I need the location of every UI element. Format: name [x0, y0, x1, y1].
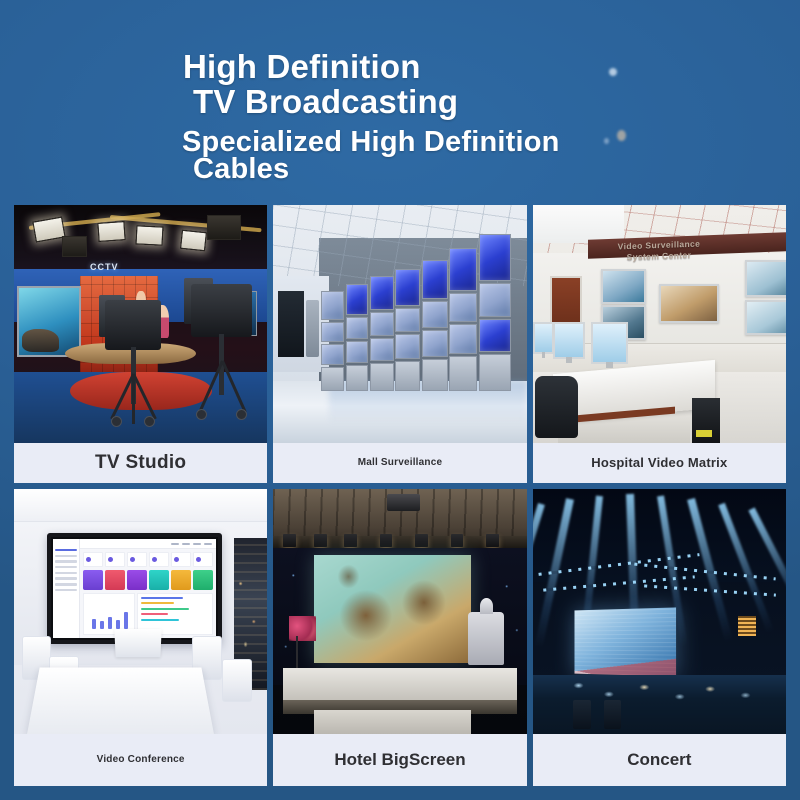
dashboard-tile: [193, 570, 213, 590]
hotel-spotlight: [283, 534, 296, 546]
mall-cabinet: [479, 354, 512, 390]
mall-monitor-column-6: [449, 248, 477, 391]
mall-screen: [321, 344, 344, 364]
bokeh-light-2: [617, 130, 626, 141]
hotel-projection-screen: [314, 555, 471, 663]
chart-bar: [108, 617, 112, 629]
card-concert[interactable]: Concert: [533, 489, 786, 786]
studio-monitor-left: [17, 286, 82, 357]
mall-screen: [449, 248, 477, 291]
chart-bar: [116, 620, 120, 629]
mall-screen: [422, 260, 449, 299]
mall-monitor-column-2: [346, 284, 369, 391]
hospital-wall-display-5: [745, 300, 786, 335]
mall-screen: [449, 293, 477, 322]
camera-wheel-2b: [236, 409, 247, 420]
stat-card: [127, 552, 147, 567]
banner-header: High Definition TV Broadcasting Speciali…: [0, 0, 800, 196]
mall-screen: [422, 301, 449, 328]
conference-chair-right-2: [222, 659, 252, 703]
mall-monitor-column-3: [370, 276, 394, 390]
stat-card: [171, 552, 191, 567]
toolbar-item: [204, 543, 212, 545]
hospital-signage: Video SurveillanceSystem Center: [618, 238, 701, 262]
concert-stage-monitor-2: [604, 700, 622, 729]
headline-line-2: TV Broadcasting: [193, 83, 458, 121]
card-hotel-big-screen[interactable]: Hotel BigScreen: [273, 489, 526, 786]
card-tv-studio[interactable]: CCTV: [14, 205, 267, 483]
studio-lamp-4: [180, 230, 207, 251]
concert-amber-light-block: [738, 616, 756, 636]
mall-monitor-column-4: [395, 269, 420, 390]
chart-bar: [100, 621, 104, 629]
conference-table: [27, 667, 214, 734]
mall-screen: [370, 338, 394, 361]
photo-hospital-video-matrix: Video SurveillanceSystem Center: [533, 205, 786, 443]
bokeh-light-1: [609, 68, 617, 76]
dashboard-main: [80, 539, 216, 638]
chart-bar: [92, 619, 96, 629]
studio-camera-1: [105, 300, 161, 424]
mall-screen: [346, 317, 369, 339]
display-content: [603, 271, 644, 302]
concert-stage-monitor-1: [573, 700, 591, 729]
dashboard-tile: [171, 570, 191, 590]
caption-concert: Concert: [533, 734, 786, 786]
hotel-cake-table: [468, 612, 503, 666]
mall-screen: [346, 284, 369, 316]
dashboard-tile-row: [80, 570, 216, 593]
stat-card: [83, 552, 103, 567]
dashboard-sidebar: [53, 539, 80, 638]
mall-screen: [395, 334, 420, 359]
mall-screen: [321, 322, 344, 342]
display-content: [747, 262, 786, 295]
progress-row: [141, 619, 179, 621]
mall-cabinet: [422, 359, 449, 391]
mall-screen: [422, 330, 449, 357]
hospital-wall-display-4: [745, 260, 786, 297]
dashboard-tile: [83, 570, 103, 590]
hotel-spotlight: [451, 534, 464, 546]
mall-screen: [370, 312, 394, 335]
camera-body-2: [191, 284, 252, 337]
camera-wheel-1a: [111, 416, 122, 427]
studio-camera-2: [191, 284, 252, 417]
studio-lamp-3: [135, 226, 163, 246]
stat-icon: [130, 557, 135, 562]
sidebar-item: [55, 549, 77, 552]
concert-led-screen: [574, 607, 675, 676]
mall-cabinet: [449, 356, 477, 391]
hospital-wall-display-3: [659, 284, 719, 324]
stat-icon: [174, 557, 179, 562]
sidebar-item: [55, 572, 77, 575]
mall-cabinet: [321, 367, 344, 391]
headline-line-1: High Definition: [183, 48, 421, 86]
subheadline-line-2: Cables: [193, 153, 289, 186]
hospital-wall-display-1: [601, 269, 646, 304]
dashboard-tile: [127, 570, 147, 590]
dashboard-tile: [149, 570, 169, 590]
chart-bar: [124, 612, 128, 629]
sidebar-item: [55, 566, 77, 569]
camera-body-1: [105, 300, 161, 350]
camera-wheel-2a: [196, 409, 207, 420]
mall-screen: [370, 276, 394, 310]
concert-stage-floor: [533, 675, 786, 734]
caption-mall-surveillance: Mall Surveillance: [273, 443, 526, 483]
mall-screen: [479, 234, 512, 282]
toolbar-item: [171, 543, 179, 545]
photo-tv-studio: CCTV: [14, 205, 267, 443]
mall-screen: [395, 269, 420, 305]
toolbar-item: [182, 543, 190, 545]
toolbar-item: [193, 543, 201, 545]
application-card-grid: CCTV: [14, 205, 786, 786]
conference-ceiling: [14, 489, 267, 522]
stat-icon: [152, 557, 157, 562]
card-hospital-video-matrix[interactable]: Video SurveillanceSystem Center Hospital…: [533, 205, 786, 483]
hospital-monitor-2: [553, 322, 585, 359]
stat-icon: [108, 557, 113, 562]
stat-icon: [86, 557, 91, 562]
bokeh-light-3: [604, 138, 609, 144]
studio-lamp-5: [62, 236, 87, 257]
mall-screen: [479, 283, 512, 316]
sidebar-item: [55, 583, 77, 586]
hotel-spotlight: [380, 534, 393, 546]
caption-tv-studio: TV Studio: [14, 443, 267, 483]
sidebar-item: [55, 577, 77, 580]
card-mall-surveillance[interactable]: Mall Surveillance: [273, 205, 526, 483]
caption-line-2: Screen: [409, 750, 466, 769]
hotel-spotlight: [415, 534, 428, 546]
sidebar-item: [55, 589, 77, 592]
hotel-flower-arrangement: [289, 616, 317, 641]
dashboard-toolbar: [80, 539, 216, 549]
hotel-spotlight: [314, 534, 327, 546]
mall-screen: [479, 319, 512, 352]
camera-leg-1c: [132, 377, 135, 424]
card-video-conference[interactable]: Video Conference: [14, 489, 267, 786]
caption-hospital-video-matrix: Hospital Video Matrix: [533, 443, 786, 483]
photo-concert: [533, 489, 786, 734]
studio-lamp-2: [97, 221, 126, 242]
mall-screen: [346, 341, 369, 363]
photo-video-conference: [14, 489, 267, 734]
caption-hotel-big-screen: Hotel BigScreen: [273, 734, 526, 786]
conference-laptop: [115, 629, 162, 658]
hospital-ceiling-white: [533, 205, 624, 243]
mall-screen: [395, 308, 420, 333]
mall-cabinet: [395, 361, 420, 390]
hospital-monitor-3: [591, 322, 628, 364]
mall-screen: [321, 291, 344, 320]
photo-hotel-big-screen: [273, 489, 526, 734]
photo-mall-surveillance: [273, 205, 526, 443]
hotel-aisle-carpet: [314, 710, 471, 735]
dashboard-ui: [53, 539, 216, 638]
caption-line-1: Hotel Big: [334, 750, 409, 769]
sidebar-item: [55, 555, 77, 558]
caption-video-conference: Video Conference: [14, 734, 267, 786]
display-content: [661, 286, 717, 322]
promo-banner: High Definition TV Broadcasting Speciali…: [0, 0, 800, 800]
mall-server-cabinet: [278, 291, 303, 358]
mall-cabinet: [346, 365, 369, 391]
mall-monitor-column-1: [321, 291, 344, 391]
studio-lamp-6: [207, 215, 242, 241]
signage-line-2: System Center: [627, 249, 692, 261]
dashboard-stat-row: [80, 549, 216, 570]
mall-monitor-column-5: [422, 260, 449, 391]
stat-card: [193, 552, 213, 567]
mall-cabinet: [370, 363, 394, 391]
mall-speaker-pillar: [306, 300, 319, 357]
camera-leg-2b: [221, 360, 247, 412]
hospital-monitor-1: [533, 322, 555, 355]
progress-row: [141, 602, 174, 604]
progress-row: [141, 613, 168, 615]
hospital-equipment-tower: [692, 398, 720, 443]
hotel-spotlight: [486, 534, 499, 546]
stat-card: [149, 552, 169, 567]
progress-row: [141, 608, 188, 610]
hotel-projector: [387, 494, 420, 511]
hotel-stage: [283, 668, 516, 702]
studio-network-logo: CCTV: [90, 262, 119, 272]
conference-display: [47, 533, 222, 644]
stat-icon: [196, 557, 201, 562]
hotel-spotlight: [344, 534, 357, 546]
stat-card: [105, 552, 125, 567]
mall-monitor-column-7: [479, 234, 512, 391]
display-content: [747, 302, 786, 333]
dashboard-tile: [105, 570, 125, 590]
progress-row: [141, 597, 183, 599]
mall-screen: [449, 324, 477, 353]
sidebar-item: [55, 560, 77, 563]
hospital-office-chair: [535, 376, 578, 438]
